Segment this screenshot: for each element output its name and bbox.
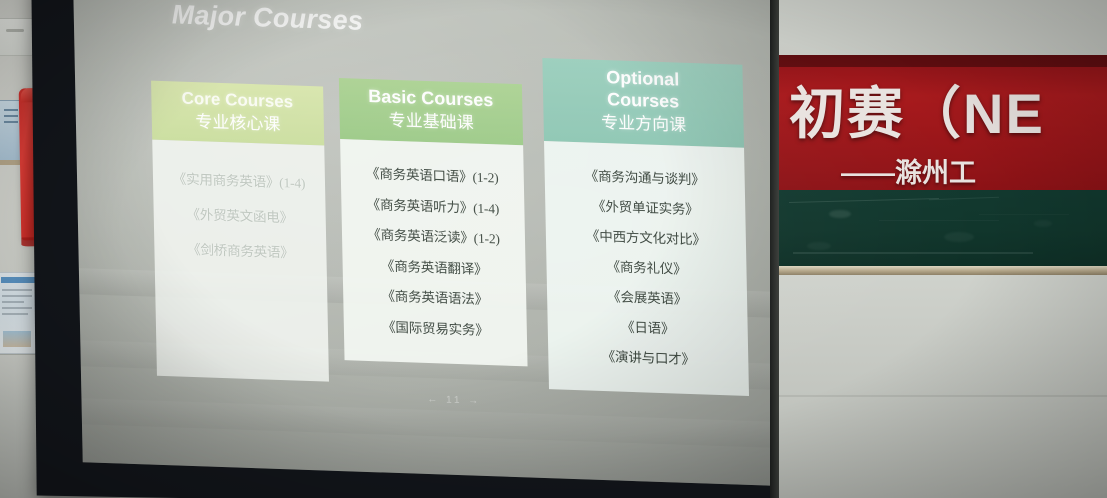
course-column-core: Core Courses 专业核心课 《实用商务英语》(1-4) 《外贸英文函电…	[150, 45, 329, 383]
projection-screen-surface: Major Courses Core Courses 专业核心课 《实用商务英语…	[73, 0, 817, 487]
powerpoint-slide: Major Courses Core Courses 专业核心课 《实用商务英语…	[131, 0, 769, 428]
course-item: 《剑桥商务英语》	[160, 237, 320, 262]
course-item: 《中西方文化对比》	[552, 223, 740, 249]
banner-sub-text: ——滁州工	[841, 151, 976, 190]
column-body-core: 《实用商务英语》(1-4) 《外贸英文函电》 《剑桥商务英语》	[152, 140, 329, 382]
course-item: 《实用商务英语》(1-4)	[159, 167, 319, 192]
column-header-cn: 专业基础课	[344, 109, 519, 136]
banner-top-shadow	[779, 55, 1107, 67]
column-header-cn: 专业方向课	[547, 111, 739, 138]
projection-screen-frame: Major Courses Core Courses 专业核心课 《实用商务英语…	[31, 0, 788, 498]
right-wall: 初赛（NE ——滁州工	[770, 0, 1107, 498]
course-columns: Core Courses 专业核心课 《实用商务英语》(1-4) 《外贸英文函电…	[150, 45, 757, 406]
poster-line	[2, 289, 32, 291]
column-header-en: Basic Courses	[343, 85, 518, 113]
course-item: 《外贸英文函电》	[159, 202, 319, 227]
poster-line	[2, 301, 24, 303]
course-item: 《国际贸易实务》	[350, 314, 521, 340]
column-body-basic: 《商务英语口语》(1-2) 《商务英语听力》(1-4) 《商务英语泛读》(1-2…	[340, 139, 527, 367]
poster-line	[2, 307, 32, 309]
slide-title: Major Courses	[171, 0, 363, 37]
classroom-photo-scene: Major Courses Core Courses 专业核心课 《实用商务英语…	[0, 0, 1107, 498]
course-item: 《商务英语翻译》	[348, 253, 519, 279]
banner-main-text: 初赛（NE	[789, 69, 1045, 150]
poster-line	[2, 313, 28, 315]
course-item: 《演讲与口才》	[554, 343, 742, 369]
wall-switch-box	[0, 18, 35, 56]
column-header-en: Optional Courses	[546, 65, 739, 115]
course-item: 《商务英语泛读》(1-2)	[348, 222, 519, 248]
column-header-basic: Basic Courses 专业基础课	[339, 78, 523, 145]
red-banner: 初赛（NE ——滁州工	[779, 55, 1107, 190]
course-item: 《外贸单证实务》	[551, 193, 739, 219]
course-item: 《商务英语口语》(1-2)	[347, 161, 518, 187]
course-item: 《商务英语听力》(1-4)	[347, 192, 518, 218]
column-header-optional: Optional Courses 专业方向课	[542, 58, 744, 148]
course-item: 《会展英语》	[553, 283, 741, 309]
screen-right-edge	[770, 0, 779, 498]
poster-image	[3, 331, 31, 347]
course-column-optional: Optional Courses 专业方向课 《商务沟通与谈判》 《外贸单证实务…	[542, 58, 749, 396]
chalkboard	[779, 190, 1107, 268]
chalk-tray	[779, 266, 1107, 275]
wall-below-board	[779, 275, 1107, 498]
poster-heading-bar	[1, 277, 35, 283]
column-body-optional: 《商务沟通与谈判》 《外贸单证实务》 《中西方文化对比》 《商务礼仪》 《会展英…	[544, 141, 749, 396]
course-item: 《日语》	[553, 313, 741, 339]
column-header-en: Core Courses	[155, 88, 319, 114]
course-column-basic: Basic Courses 专业基础课 《商务英语口语》(1-2) 《商务英语听…	[338, 51, 527, 367]
course-item: 《商务英语语法》	[349, 284, 520, 310]
column-header-core: Core Courses 专业核心课	[151, 81, 324, 146]
column-header-cn: 专业核心课	[156, 111, 320, 137]
course-item: 《商务沟通与谈判》	[550, 163, 738, 189]
course-item: 《商务礼仪》	[552, 253, 740, 279]
poster-line	[2, 295, 32, 297]
